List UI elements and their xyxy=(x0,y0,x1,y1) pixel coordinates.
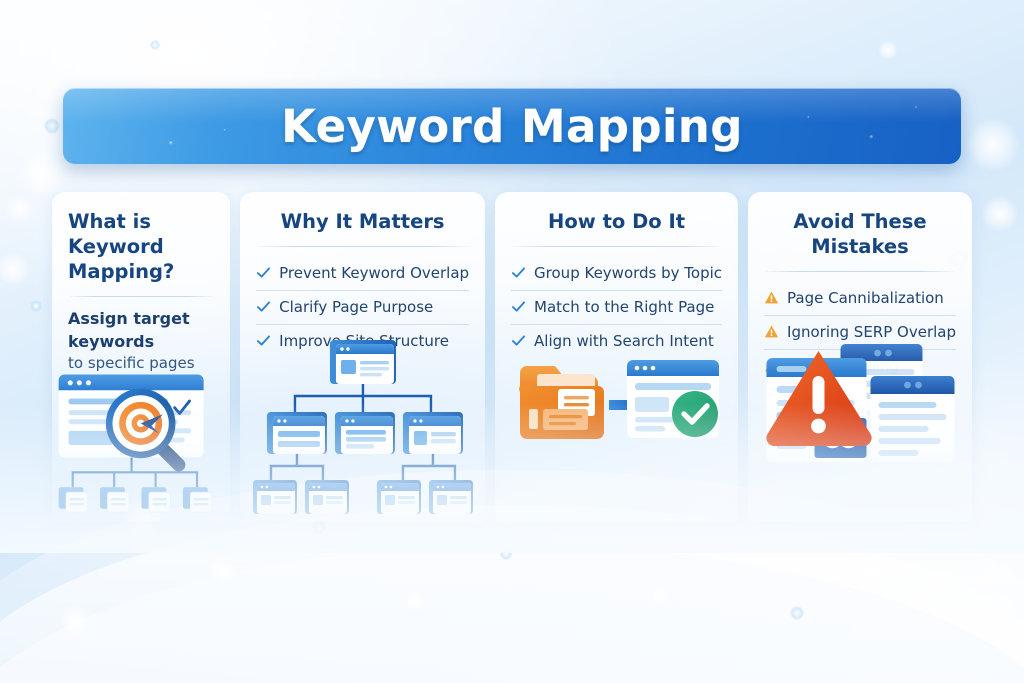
panel-why-it-matters[interactable]: Why It Matters Prevent Keyword Overlap C… xyxy=(240,192,485,522)
heading-divider xyxy=(70,296,212,297)
artwork-warning-overlapping-pages xyxy=(748,338,972,496)
check-icon xyxy=(256,265,271,280)
tree-root-node xyxy=(330,340,396,384)
panel-heading: Why It Matters xyxy=(256,210,469,235)
tree-connectors-tier1 xyxy=(295,384,431,412)
browser-window-success xyxy=(627,360,719,438)
list-item[interactable]: Match to the Right Page xyxy=(511,290,722,324)
check-icon xyxy=(511,299,526,314)
tree-leaf-node xyxy=(429,480,473,514)
list-item-label: Match to the Right Page xyxy=(534,298,714,316)
artwork-folder-to-page-arrow xyxy=(495,342,738,492)
artwork-site-hierarchy-tree xyxy=(240,334,485,522)
tree-connectors-tier2 xyxy=(271,454,455,480)
list-item-label: Clarify Page Purpose xyxy=(279,298,433,316)
tree-leaf-node xyxy=(253,480,297,514)
warning-icon xyxy=(764,290,779,305)
page-title: Keyword Mapping xyxy=(281,100,743,153)
panel-heading: Avoid These Mistakes xyxy=(764,210,956,260)
heading-divider xyxy=(766,271,954,272)
tree-mid-node xyxy=(267,412,327,454)
check-icon xyxy=(256,299,271,314)
check-icon xyxy=(511,265,526,280)
list-item[interactable]: Clarify Page Purpose xyxy=(256,290,469,324)
title-banner: Keyword Mapping xyxy=(63,88,961,164)
list-item-label: Group Keywords by Topic xyxy=(534,264,722,282)
list-item[interactable]: Prevent Keyword Overlap xyxy=(256,257,469,290)
list-item-label: Page Cannibalization xyxy=(787,289,944,307)
folder-icon xyxy=(519,366,604,439)
infographic-canvas: Keyword Mapping What is Keyword Mapping?… xyxy=(0,0,1024,683)
tree-mid-node xyxy=(335,412,395,454)
panel-what-is-keyword-mapping[interactable]: What is Keyword Mapping? Assign target k… xyxy=(52,192,230,522)
panel-how-to-do-it[interactable]: How to Do It Group Keywords by Topic Mat… xyxy=(495,192,738,522)
panel-heading: How to Do It xyxy=(511,210,722,235)
panel-heading: What is Keyword Mapping? xyxy=(68,210,214,285)
tree-leaf-node xyxy=(377,480,421,514)
artwork-magnifier-target-sitemap xyxy=(52,340,230,522)
tree-leaf-node xyxy=(305,480,349,514)
tree-mid-node xyxy=(403,412,463,454)
columns-container: What is Keyword Mapping? Assign target k… xyxy=(52,192,972,522)
heading-divider xyxy=(258,246,467,247)
list-item[interactable]: Group Keywords by Topic xyxy=(511,257,722,290)
panel-avoid-these-mistakes[interactable]: Avoid These Mistakes Page Cannibalizatio… xyxy=(748,192,972,522)
browser-window-right xyxy=(871,376,955,462)
list-item[interactable]: Page Cannibalization xyxy=(764,282,956,315)
list-item-label: Prevent Keyword Overlap xyxy=(279,264,469,282)
sitemap-nodes xyxy=(59,487,212,512)
heading-divider xyxy=(513,246,720,247)
